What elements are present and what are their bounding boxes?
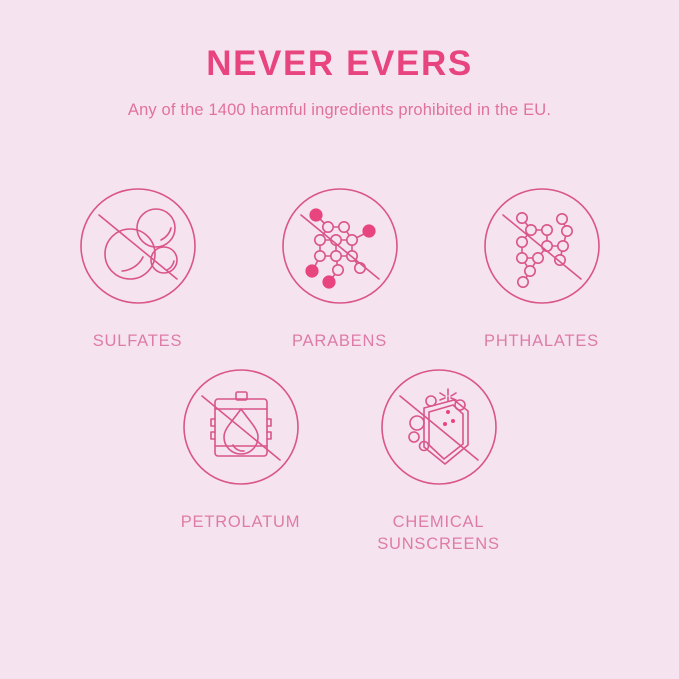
ingredient-item-sulfates: SULFATES <box>73 186 203 352</box>
ingredient-row-1: SULFATES <box>40 186 640 352</box>
no-chemical-sunscreens-icon <box>379 367 499 487</box>
page-subtitle: Any of the 1400 harmful ingredients proh… <box>128 101 551 120</box>
ingredient-grid: SULFATES <box>40 186 640 556</box>
ingredient-label: PETROLATUM <box>181 511 301 533</box>
no-sulfates-bubbles-icon <box>78 186 198 306</box>
ingredient-label: CHEMICAL SUNSCREENS <box>377 511 500 556</box>
page-title: NEVER EVERS <box>206 45 473 84</box>
ingredient-item-chemical-sunscreens: CHEMICAL SUNSCREENS <box>374 367 504 556</box>
ingredient-label: PHTHALATES <box>484 330 599 352</box>
ingredient-label: PARABENS <box>292 330 387 352</box>
no-phthalates-molecule-icon <box>482 186 602 306</box>
no-parabens-molecule-icon <box>280 186 400 306</box>
ingredient-item-phthalates: PHTHALATES <box>477 186 607 352</box>
never-evers-poster: NEVER EVERS Any of the 1400 harmful ingr… <box>0 0 679 679</box>
ingredient-label: SULFATES <box>93 330 183 352</box>
ingredient-item-petrolatum: PETROLATUM <box>176 367 306 556</box>
no-petrolatum-oil-barrel-icon <box>181 367 301 487</box>
ingredient-row-2: PETROLATUM <box>40 367 640 556</box>
ingredient-item-parabens: PARABENS <box>275 186 405 352</box>
